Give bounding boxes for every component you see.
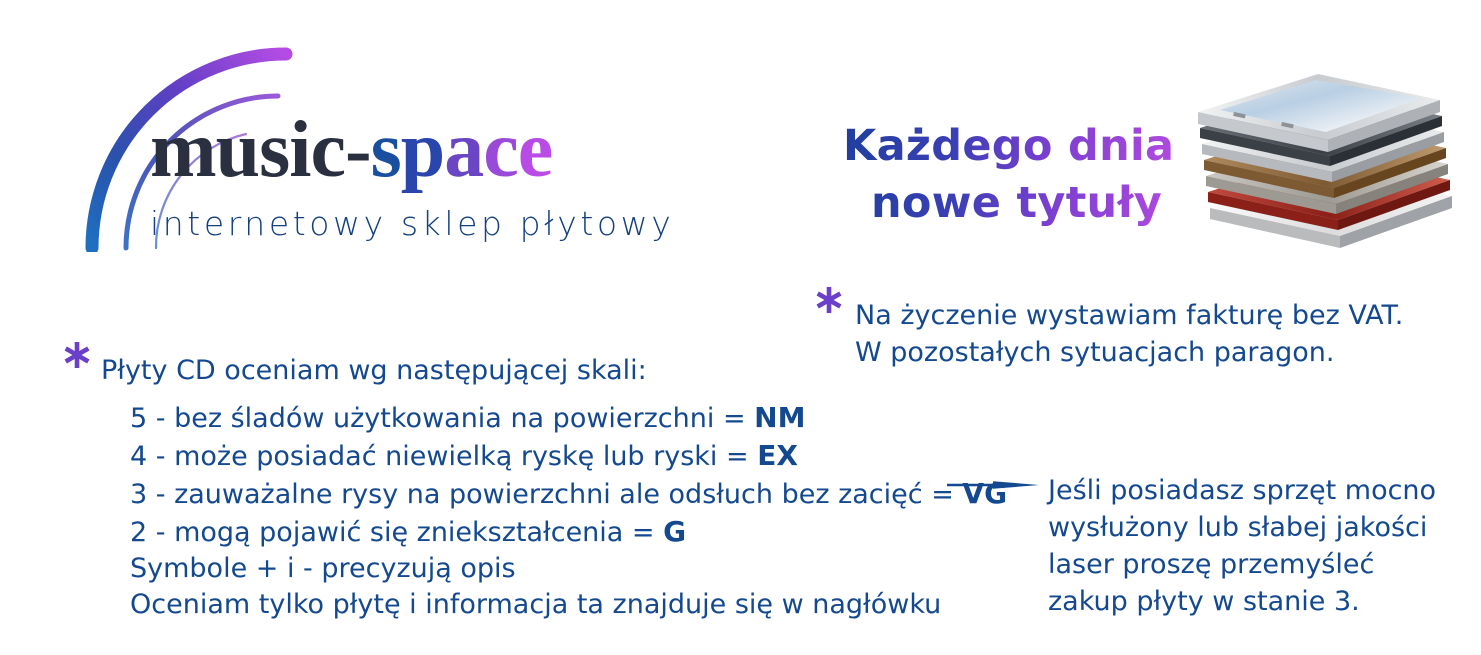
laser-note-line-3: laser proszę przemyśleć [1048,547,1436,584]
scale-row-grade: NM [754,401,805,434]
logo-word-seg-3: a [444,106,483,194]
asterisk-icon [62,340,92,370]
scale-row-text: 4 - może posiadać niewielką ryskę lub ry… [130,441,757,472]
flyer-canvas: music-space internetowy sklep płytowy Ka… [0,0,1481,655]
slogan-line-2: nowe tytuły [843,175,1174,232]
laser-note-line-2: wysłużony lub słabej jakości [1048,510,1436,547]
scale-row-grade: G [663,515,686,548]
scale-heading: Płyty CD oceniam wg następującej skali: [101,355,647,386]
logo-word-seg-5: e [518,106,553,194]
logo-word-seg-0: music- [150,106,371,194]
laser-note-line-1: Jeśli posiadasz sprzęt mocno [1048,473,1436,510]
slogan: Każdego dnia nowe tytuły [843,118,1174,232]
arrow-right-icon [947,478,1039,492]
scale-row-text: 3 - zauważalne rysy na powierzchni ale o… [130,479,962,510]
scale-list: 5 - bez śladów użytkowania na powierzchn… [130,399,1007,622]
scale-row-grade: EX [757,439,798,472]
slogan-line-1: Każdego dnia [843,118,1174,175]
brand-logo: music-space internetowy sklep płytowy [78,22,768,252]
cd-stack-photo [1190,58,1472,273]
scale-row: 3 - zauważalne rysy na powierzchni ale o… [130,475,1007,513]
logo-wordmark: music-space [150,110,552,190]
scale-row-text: Oceniam tylko płytę i informacja ta znaj… [130,589,941,620]
vat-note-line-2: W pozostałych sytuacjach paragon. [855,334,1403,371]
vat-note-line-1: Na życzenie wystawiam fakturę bez VAT. [855,297,1403,334]
logo-word-seg-4: c [483,106,518,194]
scale-row-text: 2 - mogą pojawić się zniekształcenia = [130,517,663,548]
scale-row: 5 - bez śladów użytkowania na powierzchn… [130,399,1007,437]
laser-note-line-4: zakup płyty w stanie 3. [1048,584,1436,621]
logo-word-seg-2: p [401,106,445,194]
asterisk-icon [814,285,844,315]
vat-note: Na życzenie wystawiam fakturę bez VAT. W… [855,297,1403,372]
scale-row: 2 - mogą pojawić się zniekształcenia = G [130,513,1007,551]
scale-row: 4 - może posiadać niewielką ryskę lub ry… [130,437,1007,475]
scale-row-text: Symbole + i - precyzują opis [130,553,516,584]
scale-row: Oceniam tylko płytę i informacja ta znaj… [130,587,1007,623]
scale-row-text: 5 - bez śladów użytkowania na powierzchn… [130,403,754,434]
laser-note: Jeśli posiadasz sprzęt mocno wysłużony l… [1048,473,1436,621]
scale-row: Symbole + i - precyzują opis [130,551,1007,587]
logo-tagline: internetowy sklep płytowy [150,204,674,243]
logo-word-seg-1: s [371,106,401,194]
